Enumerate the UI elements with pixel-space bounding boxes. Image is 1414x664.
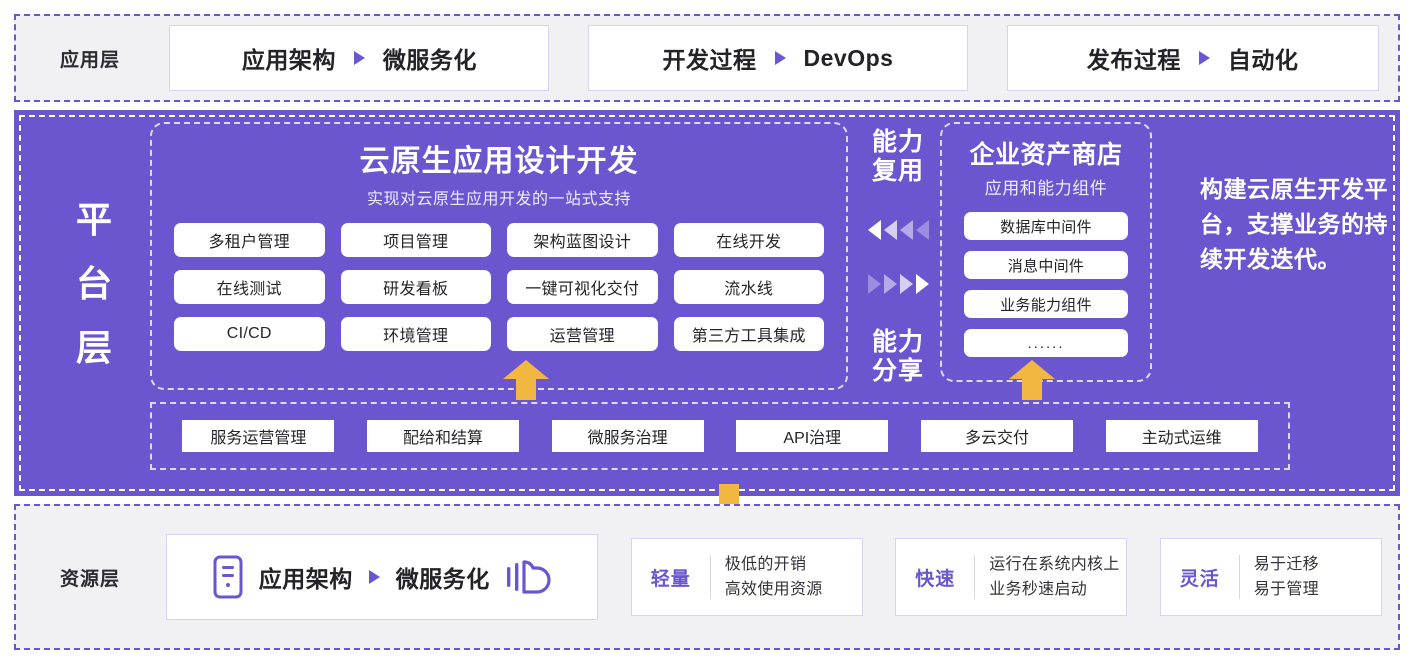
capability-share-label: 能力 分享 [872,328,924,386]
feature-card-fast[interactable]: 快速 运行在系统内核上 业务秒速启动 [895,538,1127,616]
store-chip[interactable]: 消息中间件 [964,251,1128,279]
ops-chip[interactable]: 微服务治理 [552,420,704,452]
arrow-shaft [516,376,536,400]
ops-chip[interactable]: 配给和结算 [367,420,519,452]
dev-chip[interactable]: 多租户管理 [174,223,325,257]
feature-line-1: 极低的开销 [725,552,823,577]
diagram-canvas: 应用层 应用架构 微服务化 开发过程 DevOps 发布过程 自动化 平 [0,0,1414,664]
ops-chip[interactable]: API治理 [736,420,888,452]
feature-card-flexible[interactable]: 灵活 易于迁移 易于管理 [1160,538,1382,616]
app-card-devprocess[interactable]: 开发过程 DevOps [588,25,968,91]
dev-chip[interactable]: 架构蓝图设计 [507,223,658,257]
capability-reuse-line2: 复用 [872,157,924,186]
feature-line-1: 易于迁移 [1254,552,1319,577]
cloud-icon [506,558,552,596]
feature-key: 快速 [896,564,974,591]
application-layer-section: 应用层 应用架构 微服务化 开发过程 DevOps 发布过程 自动化 [14,14,1400,102]
app-card-release[interactable]: 发布过程 自动化 [1007,25,1379,91]
dev-chip[interactable]: 研发看板 [341,270,492,304]
arrow-up-icon-dev [503,360,549,400]
application-layer-label: 应用层 [30,45,150,72]
app-card-left-label: 发布过程 [1087,41,1181,75]
arrow-head [503,360,549,379]
app-card-left-label: 开发过程 [663,41,757,75]
dev-chip[interactable]: 在线开发 [674,223,825,257]
dev-box-chip-grid: 多租户管理 项目管理 架构蓝图设计 在线开发 在线测试 研发看板 一键可视化交付… [152,209,846,351]
resource-layer-cards: 应用架构 微服务化 轻量 极低的开销 高效使用资源 [150,506,1398,648]
feature-key: 轻量 [632,564,710,591]
dev-box-subtitle: 实现对云原生应用开发的一站式支持 [152,185,846,209]
app-card-right-label: DevOps [804,45,894,72]
operations-strip: 服务运营管理 配给和结算 微服务治理 API治理 多云交付 主动式运维 [150,402,1290,470]
feature-value: 运行在系统内核上 业务秒速启动 [975,552,1119,602]
triangle-right-icon [354,51,365,65]
feature-card-lightweight[interactable]: 轻量 极低的开销 高效使用资源 [631,538,863,616]
arrow-up-icon-store [1009,360,1055,400]
ops-chip[interactable]: 主动式运维 [1106,420,1258,452]
app-card-left-label: 应用架构 [242,41,336,75]
triangle-right-icon [868,274,881,294]
feature-key: 灵活 [1161,564,1239,591]
triangle-left-icon [916,220,929,240]
dev-chip[interactable]: 流水线 [674,270,825,304]
feature-line-2: 高效使用资源 [725,577,823,602]
store-chip-more[interactable]: ...... [964,329,1128,357]
dev-chip[interactable]: 在线测试 [174,270,325,304]
dev-chip[interactable]: 第三方工具集成 [674,317,825,351]
dev-chip[interactable]: 环境管理 [341,317,492,351]
feature-value: 极低的开销 高效使用资源 [711,552,823,602]
triangle-left-icon [868,220,881,240]
platform-layer-section: 平 台 层 云原生应用设计开发 实现对云原生应用开发的一站式支持 多租户管理 项… [14,110,1400,496]
triangle-right-icon [369,570,380,584]
server-rack-icon [213,555,243,599]
ops-chip[interactable]: 多云交付 [921,420,1073,452]
arrow-head [1009,360,1055,379]
triangle-right-icon [1199,51,1210,65]
store-chip-list: 数据库中间件 消息中间件 业务能力组件 ...... [942,199,1150,357]
platform-label-char-2: 台 [60,252,130,316]
ops-chip[interactable]: 服务运营管理 [182,420,334,452]
feature-line-1: 运行在系统内核上 [989,552,1119,577]
arrows-left-row [868,219,929,241]
store-chip[interactable]: 业务能力组件 [964,290,1128,318]
arrow-shaft [1022,376,1042,400]
dev-chip[interactable]: 项目管理 [341,223,492,257]
dev-chip[interactable]: 一键可视化交付 [507,270,658,304]
store-chip[interactable]: 数据库中间件 [964,212,1128,240]
capability-share-line2: 分享 [872,357,924,386]
dev-box-title: 云原生应用设计开发 [152,136,846,180]
platform-label-char-1: 平 [60,188,130,252]
resource-layer-label: 资源层 [30,564,150,591]
feature-value: 易于迁移 易于管理 [1240,552,1319,602]
dev-chip[interactable]: CI/CD [174,317,325,351]
store-box-subtitle: 应用和能力组件 [942,174,1150,199]
application-layer-cards: 应用架构 微服务化 开发过程 DevOps 发布过程 自动化 [150,16,1398,100]
arrows-right-row [868,273,929,295]
resource-card-right-label: 微服务化 [396,560,490,594]
triangle-right-icon [775,51,786,65]
platform-label-char-3: 层 [60,316,130,380]
capability-share-line1: 能力 [872,328,924,357]
dev-chip[interactable]: 运营管理 [507,317,658,351]
app-card-right-label: 自动化 [1228,41,1299,75]
triangle-right-icon [916,274,929,294]
cloud-native-dev-box: 云原生应用设计开发 实现对云原生应用开发的一站式支持 多租户管理 项目管理 架构… [150,122,848,390]
triangle-right-icon [900,274,913,294]
feature-line-2: 易于管理 [1254,577,1319,602]
enterprise-asset-store-box: 企业资产商店 应用和能力组件 数据库中间件 消息中间件 业务能力组件 .....… [940,122,1152,382]
app-card-architecture[interactable]: 应用架构 微服务化 [169,25,549,91]
capability-column: 能力 复用 能力 分享 [852,128,944,386]
triangle-left-icon [900,220,913,240]
store-box-title: 企业资产商店 [942,135,1150,171]
resource-layer-section: 资源层 应用架构 微服务化 [14,504,1400,650]
platform-blurb-text: 构建云原生开发平台，支撑业务的持续开发迭代。 [1200,172,1390,277]
triangle-left-icon [884,220,897,240]
resource-main-card[interactable]: 应用架构 微服务化 [166,534,598,620]
capability-reuse-line1: 能力 [872,128,924,157]
app-card-right-label: 微服务化 [383,41,477,75]
feature-line-2: 业务秒速启动 [989,577,1119,602]
resource-card-left-label: 应用架构 [259,560,353,594]
capability-reuse-label: 能力 复用 [872,128,924,186]
triangle-right-icon [884,274,897,294]
platform-layer-label: 平 台 层 [60,188,130,380]
